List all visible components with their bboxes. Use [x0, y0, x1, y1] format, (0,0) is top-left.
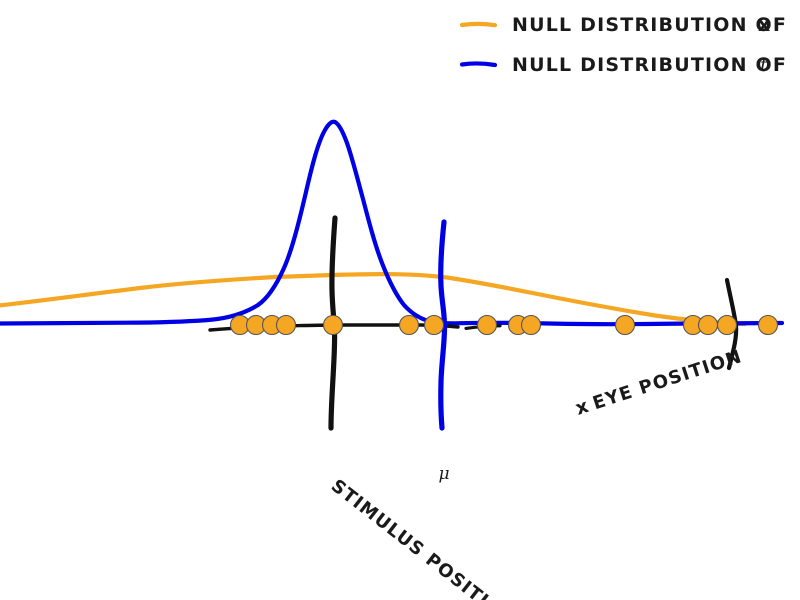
legend: NULL DISTRIBUTION OF x NULL DISTRIBUTION…: [462, 14, 787, 76]
data-point: [759, 316, 778, 335]
legend-symbol-x: x: [758, 14, 770, 36]
data-point: [324, 316, 343, 335]
data-point: [400, 316, 419, 335]
null-distribution-x-curve: [0, 274, 745, 324]
data-point: [718, 316, 737, 335]
mu-axis-label: μ: [438, 464, 449, 484]
legend-entry-null-t[interactable]: NULL DISTRIBUTION OF t: [462, 54, 787, 76]
x-axis-label-group: x EYE POSITION: [573, 345, 745, 420]
legend-label-null-x: NULL DISTRIBUTION OF: [512, 14, 787, 36]
legend-label-null-t: NULL DISTRIBUTION OF: [512, 54, 787, 76]
figure-canvas: NULL DISTRIBUTION OF x NULL DISTRIBUTION…: [0, 0, 800, 600]
legend-swatch-line-blue: [462, 63, 495, 65]
null-distribution-t-curve: [0, 122, 782, 324]
data-point: [425, 316, 444, 335]
data-point: [616, 316, 635, 335]
data-point: [277, 316, 296, 335]
stimulus-position-label: STIMULUS POSITION: [327, 475, 519, 600]
x-axis-label: EYE POSITION: [590, 346, 745, 414]
data-point: [699, 316, 718, 335]
sketch-plot: NULL DISTRIBUTION OF x NULL DISTRIBUTION…: [0, 0, 800, 600]
data-point: [478, 316, 497, 335]
legend-swatch-line-orange: [462, 24, 495, 25]
legend-entry-null-x[interactable]: NULL DISTRIBUTION OF x: [462, 14, 787, 36]
legend-symbol-t: t: [760, 54, 768, 76]
data-point: [522, 316, 541, 335]
x-axis-label-symbol: x: [573, 395, 591, 420]
